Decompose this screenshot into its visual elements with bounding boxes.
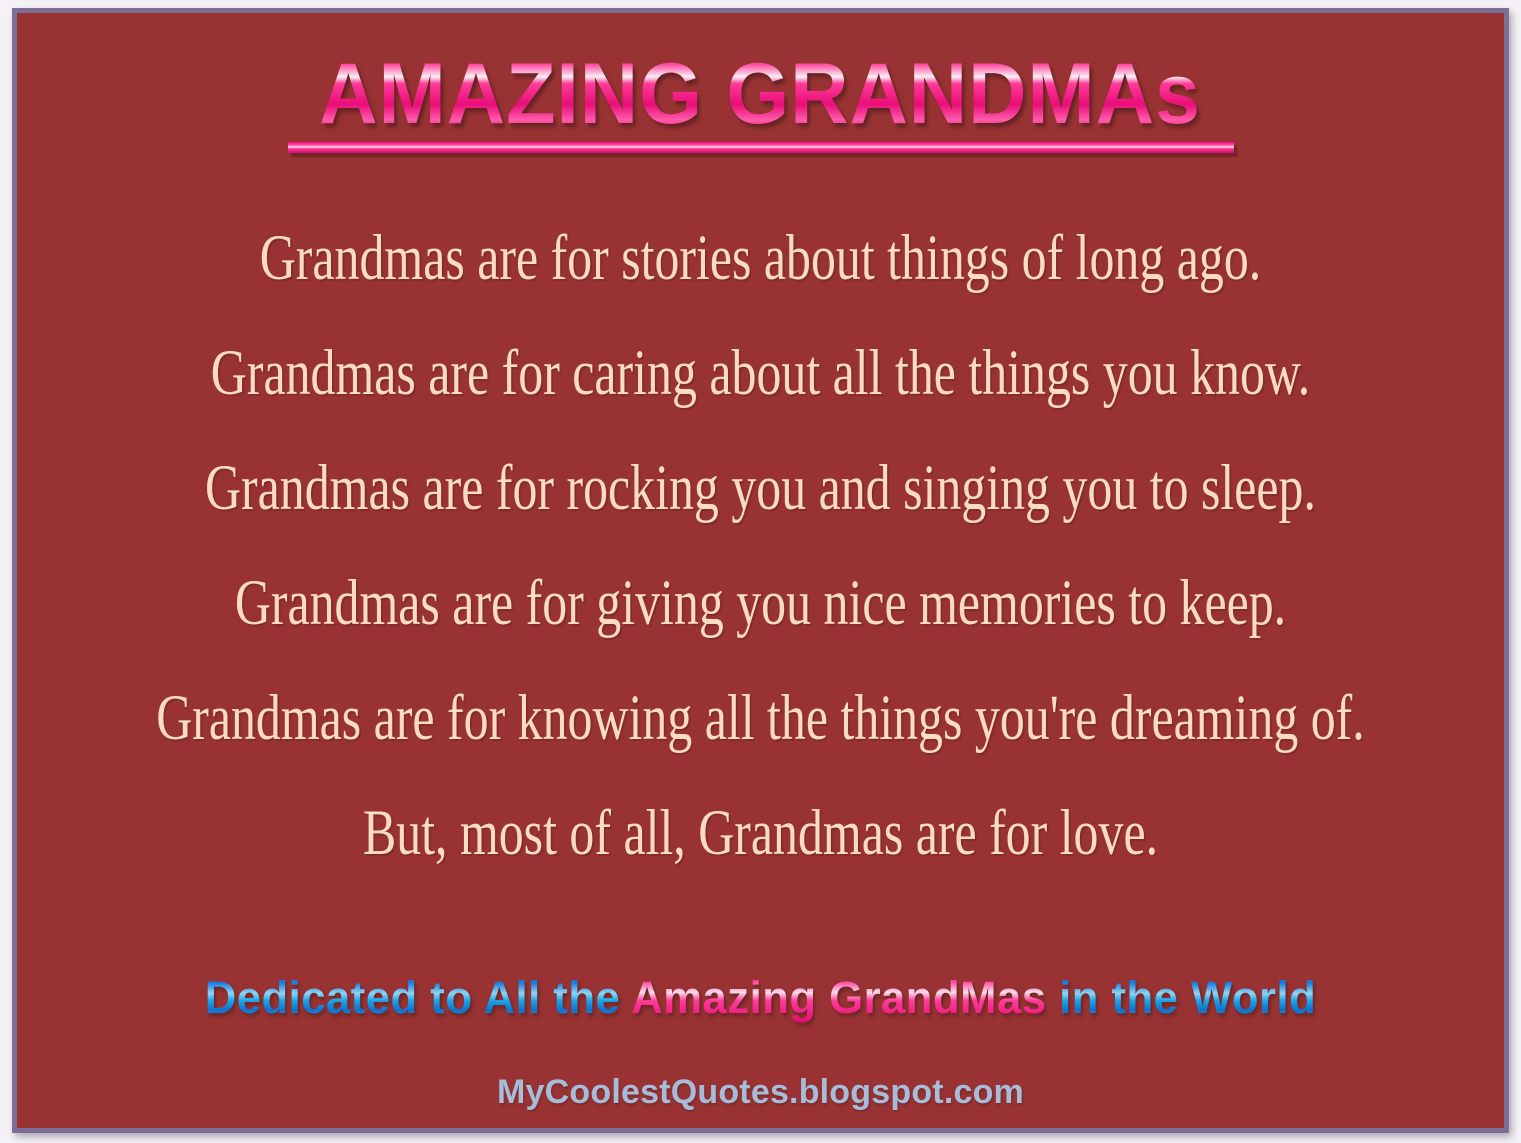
site-url[interactable]: MyCoolestQuotes.blogspot.com	[17, 1073, 1504, 1112]
page-title: AMAZING GRANDMAs	[320, 51, 1202, 137]
dedication-line: Dedicated to All the Amazing GrandMas in…	[39, 975, 1481, 1020]
quote-body: Grandmas are for stories about things of…	[17, 225, 1504, 915]
dedication-prefix: Dedicated to All the	[205, 972, 632, 1023]
quote-line: But, most of all, Grandmas are for love.	[121, 800, 1400, 865]
dedication-highlight: Amazing GrandMas	[631, 972, 1046, 1023]
title-block: AMAZING GRANDMAs	[17, 51, 1504, 153]
quote-line: Grandmas are for rocking you and singing…	[121, 455, 1400, 520]
title-underline-rule	[288, 142, 1234, 153]
quote-card: AMAZING GRANDMAs Grandmas are for storie…	[12, 8, 1509, 1133]
dedication-suffix: in the World	[1046, 972, 1316, 1023]
quote-line: Grandmas are for knowing all the things …	[121, 685, 1400, 750]
quote-line: Grandmas are for giving you nice memorie…	[121, 570, 1400, 635]
quote-line: Grandmas are for caring about all the th…	[121, 340, 1400, 405]
quote-line: Grandmas are for stories about things of…	[121, 225, 1400, 290]
